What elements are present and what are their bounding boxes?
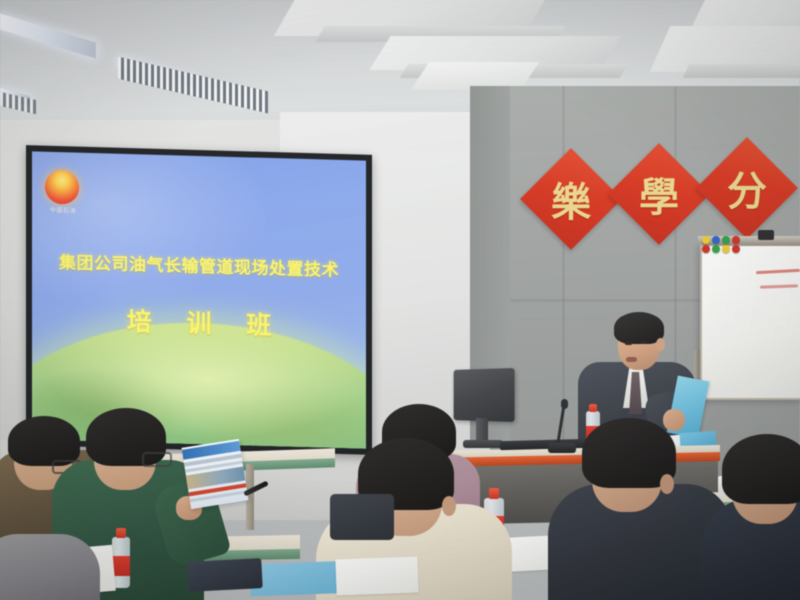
banner-diamond: 樂 xyxy=(520,148,622,250)
attendee-coat xyxy=(0,534,100,600)
bottle-cap xyxy=(116,528,126,538)
bottle-label xyxy=(112,556,130,576)
presenter-ear xyxy=(656,338,665,351)
magnet-green[interactable] xyxy=(712,245,720,253)
magnet-blue[interactable] xyxy=(712,236,720,244)
microphone-head xyxy=(561,399,568,409)
banner-diamond: 學 xyxy=(608,143,710,245)
magnet-red[interactable] xyxy=(732,236,740,244)
attendee-grey-back xyxy=(0,534,100,600)
banner-glyph: 分 xyxy=(711,152,783,224)
notebook[interactable] xyxy=(187,558,262,592)
ceiling-coffer-shade xyxy=(683,64,800,78)
whiteboard-clip xyxy=(758,230,774,240)
banner-glyph: 樂 xyxy=(535,163,607,235)
whiteboard xyxy=(700,243,800,400)
presenter-eye xyxy=(625,342,632,345)
ceiling-air-vent xyxy=(118,57,268,114)
brochure[interactable] xyxy=(182,439,249,509)
attendee-hair xyxy=(722,434,800,504)
magnet-green[interactable] xyxy=(722,236,730,244)
magnet-red[interactable] xyxy=(732,245,740,253)
wall-banner-le: 樂 xyxy=(535,163,607,235)
petrochina-sun-logo: 中国石油 xyxy=(43,170,83,217)
logo-caption: 中国石油 xyxy=(43,205,83,215)
ceiling-air-vent xyxy=(0,92,36,114)
magnet-yellow[interactable] xyxy=(722,245,730,253)
recessed-ceiling-light xyxy=(0,13,96,58)
magnet-yellow[interactable] xyxy=(702,236,710,244)
wall-banner-xue: 學 xyxy=(623,158,695,230)
attendee-dark-suit-2 xyxy=(700,440,800,600)
glasses-icon xyxy=(142,452,172,467)
presenter-mouth xyxy=(626,357,637,362)
bottle-cap xyxy=(589,404,597,412)
training-seminar-photo: 中国石油 集团公司油气长输管道现场处置技术 培 训 班 樂 學 分 xyxy=(0,0,800,600)
presenter-eye xyxy=(640,341,647,344)
banner-diamond: 分 xyxy=(696,137,798,239)
whiteboard-magnets xyxy=(702,236,744,256)
wall-banner-fen: 分 xyxy=(711,152,783,224)
chair-back xyxy=(330,494,394,540)
sun-icon xyxy=(45,170,79,205)
magnet-red[interactable] xyxy=(702,245,710,253)
attendee-ear xyxy=(442,496,456,516)
banner-glyph: 學 xyxy=(623,158,695,230)
attendee-ear xyxy=(660,474,674,494)
handout-papers[interactable] xyxy=(335,557,418,596)
